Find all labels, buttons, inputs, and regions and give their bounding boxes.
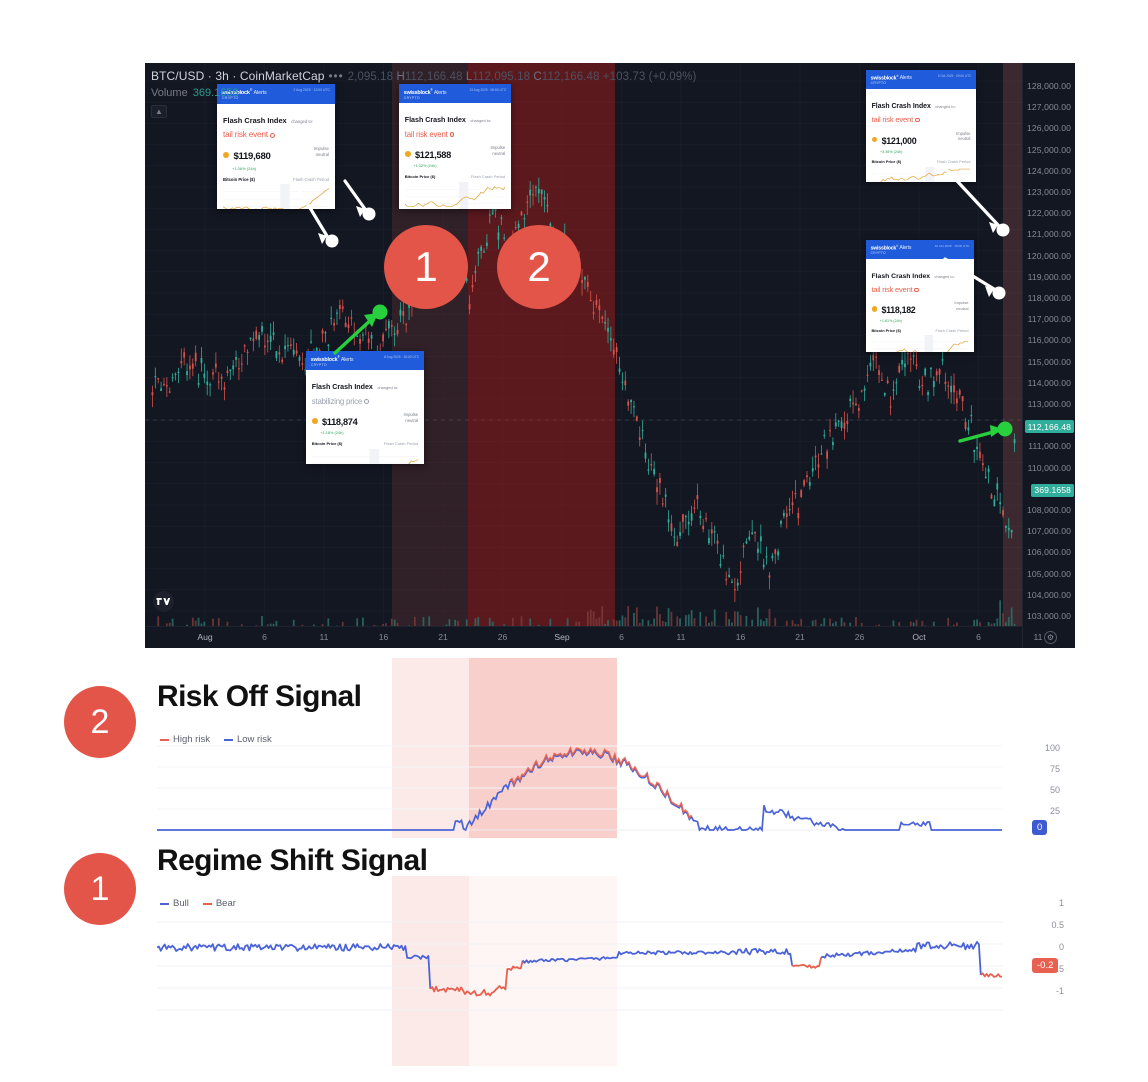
risk-off-axis-tick: 75	[1050, 764, 1060, 774]
regime-shift-axis-tick: 0	[1059, 942, 1064, 952]
ohlc-high-label: H	[396, 71, 404, 83]
annotation-arrows	[145, 63, 1022, 648]
callout-label: 1	[91, 870, 110, 909]
price-axis-tick: 128,000.00	[1027, 81, 1071, 91]
price-axis-tick: 126,000.00	[1027, 123, 1071, 133]
marker-dot-white-3	[997, 224, 1010, 237]
marker-dot-white-2	[326, 235, 339, 248]
regime-shift-value-badge: -0.2	[1032, 958, 1058, 973]
callout-2-chart: 2	[497, 225, 581, 309]
price-axis-tick: 124,000.00	[1027, 166, 1071, 176]
price-axis[interactable]: ⚙ 128,000.00127,000.00126,000.00125,000.…	[1022, 63, 1075, 648]
collapse-pane-icon[interactable]: ▲	[151, 105, 167, 118]
marker-dot-white-4	[993, 287, 1006, 300]
ohlc-high: 112,166.48	[405, 71, 463, 83]
price-axis-tick: 108,000.00	[1027, 505, 1071, 515]
ohlc-change: +103.73 (+0.09%)	[603, 71, 697, 83]
callout-label: 2	[527, 243, 550, 291]
price-axis-tick: 120,000.00	[1027, 251, 1071, 261]
risk-off-axis-tick: 25	[1050, 806, 1060, 816]
chart-legend: BTC/USD · 3h · CoinMarketCap•••2,095.18 …	[151, 69, 696, 83]
price-axis-tick: 103,000.00	[1027, 611, 1071, 621]
ohlc-open: 2,095.18	[348, 71, 394, 83]
risk-off-series	[157, 658, 1002, 838]
chart-settings-icon[interactable]: ⚙	[1044, 631, 1057, 644]
price-axis-tick: 116,000.00	[1028, 335, 1071, 345]
price-axis-badge: 112,166.48	[1025, 420, 1074, 433]
price-axis-tick: 122,000.00	[1027, 208, 1071, 218]
price-axis-tick: 113,000.00	[1028, 399, 1071, 409]
risk-off-value-badge: 0	[1032, 820, 1047, 835]
symbol-label[interactable]: BTC/USD · 3h · CoinMarketCap	[151, 69, 325, 83]
tradingview-chart-panel[interactable]: BTC/USD · 3h · CoinMarketCap•••2,095.18 …	[145, 63, 1075, 648]
risk-off-axis-tick: 100	[1045, 743, 1060, 753]
risk-off-signal-section: Risk Off Signal High risk Low risk 10075…	[0, 648, 1148, 838]
regime-shift-series	[157, 876, 1002, 1066]
price-chart-plot[interactable]	[145, 63, 1022, 648]
price-axis-tick: 115,000.00	[1028, 357, 1071, 367]
regime-shift-axis-tick: 1	[1059, 898, 1064, 908]
price-axis-tick: 107,000.00	[1027, 526, 1071, 536]
callout-label: 2	[91, 703, 110, 742]
price-axis-badge: 369.1658	[1031, 484, 1074, 497]
price-axis-tick: 119,000.00	[1028, 272, 1071, 282]
price-axis-tick: 105,000.00	[1027, 569, 1071, 579]
price-axis-tick: 111,000.00	[1028, 441, 1071, 451]
time-axis-tick: 11	[1034, 632, 1043, 642]
marker-dot-green-entry	[373, 305, 388, 320]
price-axis-tick: 121,000.00	[1027, 229, 1071, 239]
ohlc-close-label: C	[533, 71, 541, 83]
regime-shift-signal-title: Regime Shift Signal	[157, 844, 427, 878]
price-axis-tick: 114,000.00	[1028, 378, 1071, 388]
ohlc-close: 112,166.48	[542, 71, 600, 83]
marker-dot-green-exit	[998, 422, 1013, 437]
regime-shift-axis-tick: -1	[1056, 986, 1064, 996]
callout-1-chart: 1	[384, 225, 468, 309]
callout-2-riskoff: 2	[64, 686, 136, 758]
risk-off-plot[interactable]	[157, 658, 1002, 838]
price-axis-tick: 106,000.00	[1027, 547, 1071, 557]
marker-dot-white-1	[363, 208, 376, 221]
legend-more-icon[interactable]: •••	[329, 71, 344, 83]
price-axis-tick: 123,000.00	[1027, 187, 1071, 197]
volume-value: 369.1658	[193, 87, 239, 99]
price-axis-tick: 104,000.00	[1027, 590, 1071, 600]
tradingview-logo	[153, 591, 174, 612]
risk-off-axis-tick: 50	[1050, 785, 1060, 795]
volume-legend: Volume369.1658	[151, 87, 239, 99]
volume-label: Volume	[151, 87, 188, 99]
price-axis-tick: 127,000.00	[1027, 102, 1071, 112]
regime-shift-signal-section: Regime Shift Signal Bull Bear 10.50-0.5-…	[0, 838, 1148, 1068]
callout-1-regime: 1	[64, 853, 136, 925]
regime-shift-axis-tick: 0.5	[1051, 920, 1064, 930]
price-axis-tick: 118,000.00	[1028, 293, 1071, 303]
regime-shift-plot[interactable]	[157, 876, 1002, 1066]
callout-label: 1	[414, 243, 437, 291]
ohlc-low: 112,095.18	[472, 71, 530, 83]
price-axis-tick: 125,000.00	[1027, 145, 1071, 155]
price-axis-tick: 110,000.00	[1028, 463, 1071, 473]
price-axis-tick: 117,000.00	[1028, 314, 1071, 324]
